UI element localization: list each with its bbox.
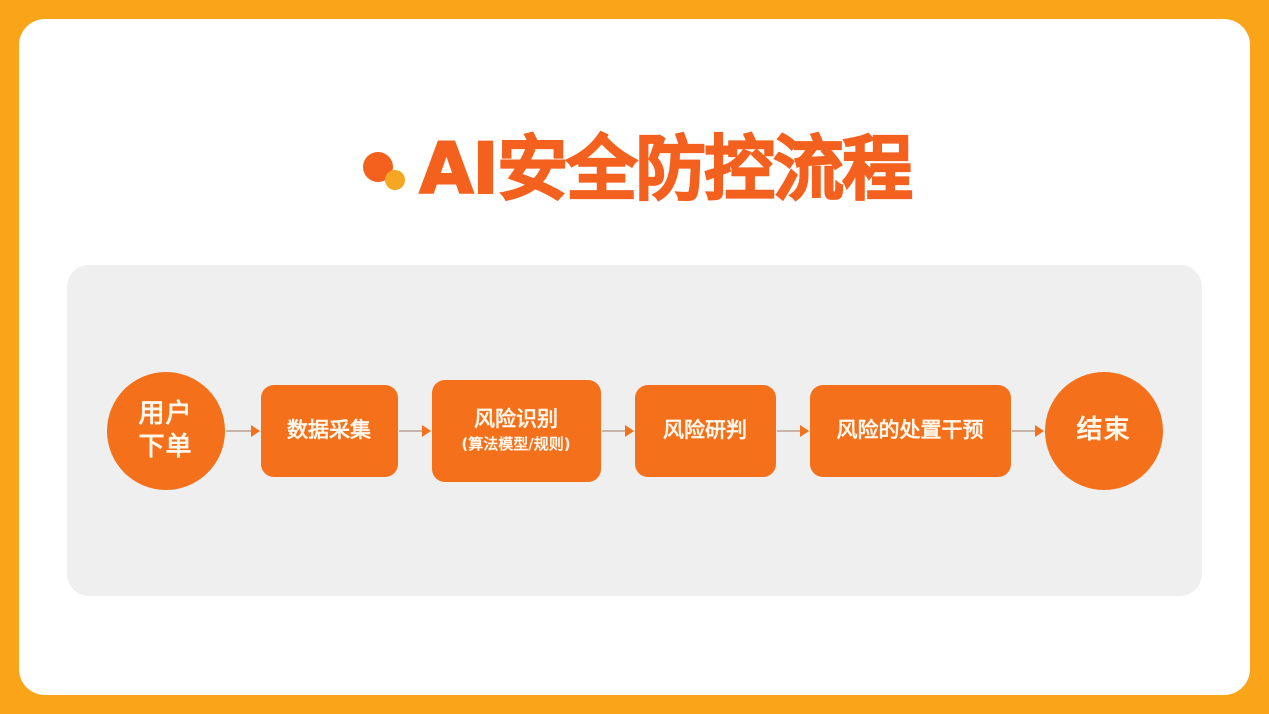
connector-risk-assessment-to-risk-intervention [777,425,809,437]
flow-panel: 用户 下单 数据采集 风险识别 (算法模型/规则) [67,265,1202,596]
flow-node-risk-identification-sublabel: (算法模型/规则) [461,435,570,455]
connector-risk-identification-to-risk-assessment [602,425,634,437]
arrow-head-icon [422,425,431,437]
flow-node-risk-intervention[interactable]: 风险的处置干预 [810,385,1011,477]
arrow-head-icon [625,425,634,437]
ornament-small-dot-icon [385,170,405,190]
slide-frame: AI安全防控流程 用户 下单 数据采集 [0,0,1269,714]
title-ornament-dots-icon [357,142,413,202]
flow-node-start-line1: 用户 [138,398,192,431]
flow-node-risk-identification-label: 风险识别 [474,406,558,432]
flow-node-start-line2: 下单 [138,431,192,464]
flow-node-end[interactable]: 结束 [1045,372,1163,490]
connector-shaft [602,430,626,432]
connector-start-to-data-collection [226,425,260,437]
connector-shaft [777,430,801,432]
arrow-head-icon [800,425,809,437]
connector-data-collection-to-risk-identification [399,425,431,437]
arrow-head-icon [1035,425,1044,437]
connector-shaft [226,430,252,432]
page-title: AI安全防控流程 [419,134,911,204]
flow-node-risk-intervention-label: 风险的处置干预 [837,417,984,443]
connector-shaft [1012,430,1036,432]
flow-node-data-collection[interactable]: 数据采集 [261,385,398,477]
connector-risk-intervention-to-end [1012,425,1044,437]
title-row: AI安全防控流程 [19,114,1250,224]
arrow-head-icon [251,425,260,437]
flow-node-risk-assessment-label: 风险研判 [663,417,747,443]
slide-card: AI安全防控流程 用户 下单 数据采集 [19,19,1250,695]
flow-node-end-label: 结束 [1076,414,1130,447]
flow-node-data-collection-label: 数据采集 [287,417,371,443]
flow-diagram: 用户 下单 数据采集 风险识别 (算法模型/规则) [67,265,1202,596]
flow-node-risk-assessment[interactable]: 风险研判 [635,385,776,477]
flow-node-start[interactable]: 用户 下单 [107,372,225,490]
connector-shaft [399,430,423,432]
flow-node-risk-identification[interactable]: 风险识别 (算法模型/规则) [432,380,601,482]
